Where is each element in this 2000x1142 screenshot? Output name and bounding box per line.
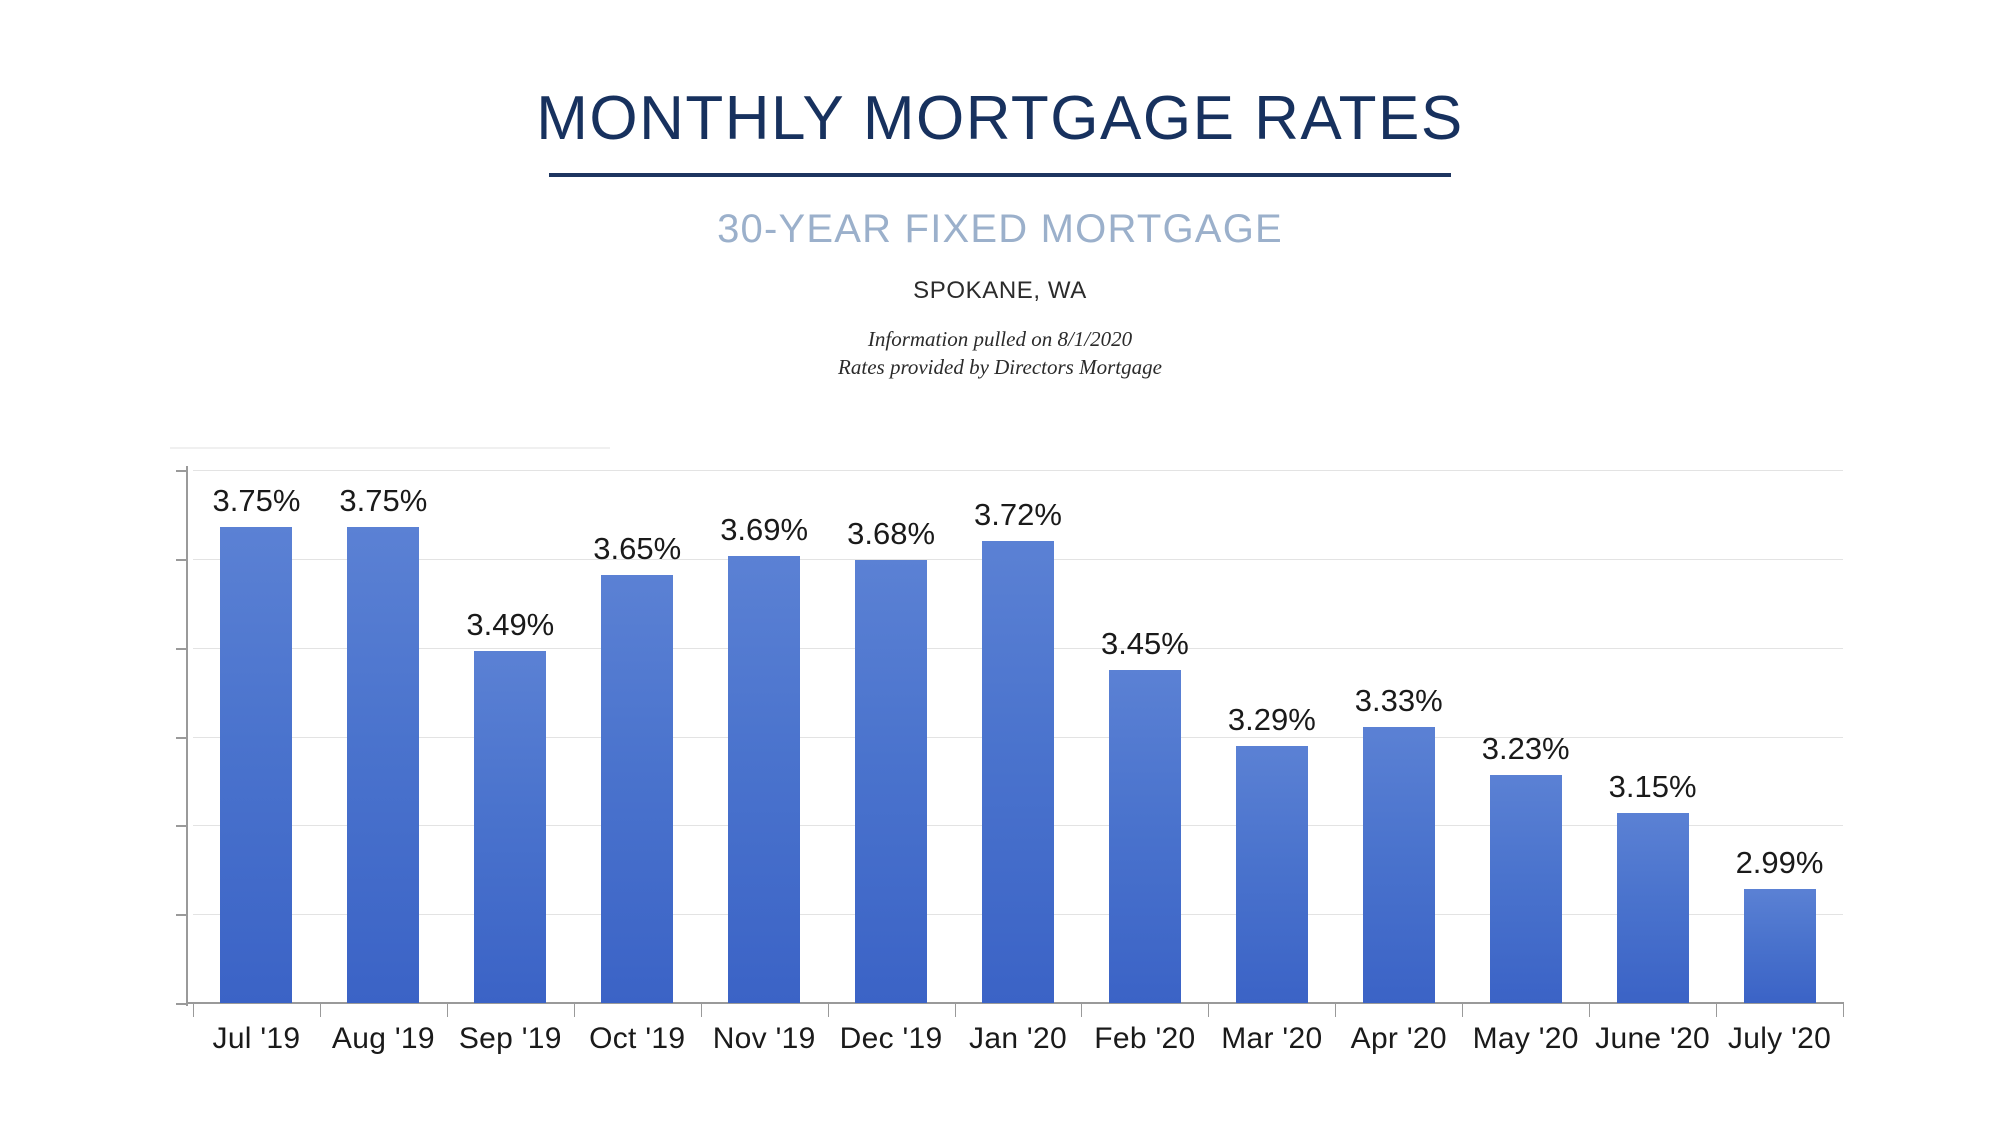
bar-value-label: 3.29%: [1228, 702, 1316, 738]
chart-top-edge-artifact: [170, 447, 610, 449]
bar-slot: 3.69%: [701, 470, 828, 1003]
x-axis-label: Jul '19: [193, 1022, 320, 1056]
bar[interactable]: 3.49%: [474, 651, 546, 1003]
gridline: [193, 648, 1843, 649]
x-axis-labels-group: Jul '19Aug '19Sep '19Oct '19Nov '19Dec '…: [193, 1022, 1843, 1056]
bar-slot: 3.72%: [955, 470, 1082, 1003]
x-axis-label: Apr '20: [1335, 1022, 1462, 1056]
x-axis-label: Mar '20: [1208, 1022, 1335, 1056]
y-axis-tick: [176, 470, 187, 472]
bar[interactable]: 3.45%: [1109, 670, 1181, 1003]
gridline: [193, 914, 1843, 915]
x-axis-label: Sep '19: [447, 1022, 574, 1056]
bar-slot: 3.15%: [1589, 470, 1716, 1003]
bar-slot: 3.49%: [447, 470, 574, 1003]
bar-slot: 3.75%: [193, 470, 320, 1003]
bar[interactable]: 3.33%: [1363, 727, 1435, 1003]
bar[interactable]: 3.29%: [1236, 746, 1308, 1003]
y-axis-line: [186, 466, 188, 1006]
gridline: [193, 470, 1843, 471]
y-axis-tick: [176, 914, 187, 916]
bar-value-label: 3.72%: [974, 497, 1062, 533]
bar[interactable]: 3.23%: [1490, 775, 1562, 1003]
x-axis-label: May '20: [1462, 1022, 1589, 1056]
x-axis-tick: [193, 1004, 194, 1017]
bar-value-label: 3.49%: [466, 607, 554, 643]
y-axis-tick: [176, 559, 187, 561]
bar-slot: 3.75%: [320, 470, 447, 1003]
x-axis-tick: [1843, 1004, 1844, 1017]
y-axis-tick: [176, 825, 187, 827]
x-axis-label: Nov '19: [701, 1022, 828, 1056]
bar-slot: 3.23%: [1462, 470, 1589, 1003]
x-axis-tick: [574, 1004, 575, 1017]
location-label: SPOKANE, WA: [0, 277, 2000, 305]
x-axis-label: Aug '19: [320, 1022, 447, 1056]
x-axis-tick: [701, 1004, 702, 1017]
bar-value-label: 3.69%: [720, 512, 808, 548]
bar-value-label: 3.33%: [1355, 683, 1443, 719]
bar[interactable]: 3.15%: [1617, 813, 1689, 1003]
x-axis-tick: [1589, 1004, 1590, 1017]
x-axis-tick: [828, 1004, 829, 1017]
y-axis-tick: [176, 737, 187, 739]
x-axis-label: Jan '20: [955, 1022, 1082, 1056]
bars-group: 3.75%3.75%3.49%3.65%3.69%3.68%3.72%3.45%…: [193, 470, 1843, 1003]
bar-value-label: 3.45%: [1101, 626, 1189, 662]
bar[interactable]: 3.69%: [728, 556, 800, 1003]
x-axis-label: Oct '19: [574, 1022, 701, 1056]
bar[interactable]: 3.75%: [220, 527, 292, 1003]
x-axis-tick: [955, 1004, 956, 1017]
x-axis-tick: [1081, 1004, 1082, 1017]
x-axis-tick: [320, 1004, 321, 1017]
bar-slot: 3.29%: [1208, 470, 1335, 1003]
bar-slot: 3.33%: [1335, 470, 1462, 1003]
bar-value-label: 3.75%: [213, 483, 301, 519]
x-axis-label: Dec '19: [828, 1022, 955, 1056]
bar[interactable]: 3.68%: [855, 560, 927, 1003]
bar-slot: 3.45%: [1081, 470, 1208, 1003]
bar-slot: 2.99%: [1716, 470, 1843, 1003]
x-axis-tick: [447, 1004, 448, 1017]
data-source-note: Rates provided by Directors Mortgage: [0, 353, 2000, 381]
bar-slot: 3.68%: [828, 470, 955, 1003]
y-axis-tick: [176, 1003, 187, 1005]
bar-value-label: 3.75%: [339, 483, 427, 519]
x-axis-tick: [1462, 1004, 1463, 1017]
x-axis-tick: [1716, 1004, 1717, 1017]
x-axis-label: Feb '20: [1081, 1022, 1208, 1056]
gridline: [193, 737, 1843, 738]
chart-subtitle: 30-YEAR FIXED MORTGAGE: [0, 207, 2000, 251]
x-axis-label: July '20: [1716, 1022, 1843, 1056]
x-axis-label: June '20: [1589, 1022, 1716, 1056]
bar[interactable]: 3.65%: [601, 575, 673, 1003]
gridline: [193, 825, 1843, 826]
x-axis-tick: [1335, 1004, 1336, 1017]
bar-value-label: 3.65%: [593, 531, 681, 567]
bar-value-label: 3.23%: [1482, 731, 1570, 767]
bar-slot: 3.65%: [574, 470, 701, 1003]
bar-value-label: 2.99%: [1736, 845, 1824, 881]
bar-value-label: 3.15%: [1609, 769, 1697, 805]
data-pull-date-note: Information pulled on 8/1/2020: [0, 325, 2000, 353]
bar-value-label: 3.68%: [847, 516, 935, 552]
y-axis-tick: [176, 648, 187, 650]
x-axis-line: [186, 1002, 1844, 1004]
chart-header: MONTHLY MORTGAGE RATES 30-YEAR FIXED MOR…: [0, 0, 2000, 382]
title-underline: [549, 173, 1451, 177]
page-title: MONTHLY MORTGAGE RATES: [0, 0, 2000, 151]
bar[interactable]: 3.75%: [347, 527, 419, 1003]
x-axis-tick: [1208, 1004, 1209, 1017]
bar[interactable]: 2.99%: [1744, 889, 1816, 1003]
bar[interactable]: 3.72%: [982, 541, 1054, 1003]
gridline: [193, 559, 1843, 560]
